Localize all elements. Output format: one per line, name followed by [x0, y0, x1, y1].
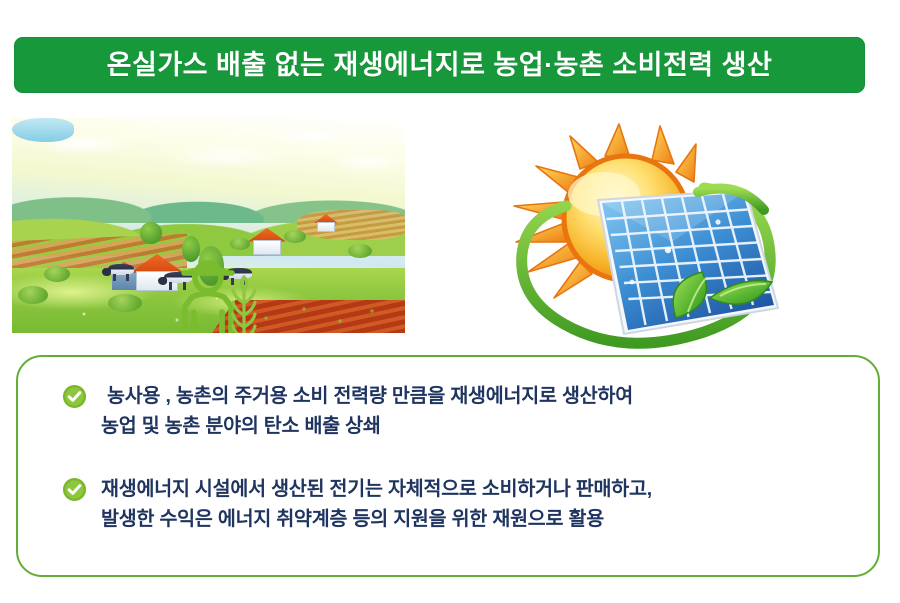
- cow-leg: [113, 274, 116, 281]
- farmer-with-wheat-icon: [164, 251, 272, 333]
- farm-house-far: [314, 214, 338, 232]
- check-circle-icon: [62, 477, 87, 502]
- bullet-line: 발생한 수익은 에너지 취약계층 등의 지원을 위한 재원으로 활용: [101, 504, 652, 534]
- bush: [284, 230, 306, 243]
- farm-landscape-image: [12, 118, 405, 333]
- bullet-line: 농사용 , 농촌의 주거용 소비 전력량 만큼을 재생에너지로 생산하여: [101, 381, 633, 411]
- bullet-text: 재생에너지 시설에서 생산된 전기는 자체적으로 소비하거나 판매하고, 발생한…: [101, 474, 652, 534]
- tree: [140, 222, 162, 244]
- bush: [44, 266, 70, 282]
- pond: [12, 118, 74, 142]
- check-circle-icon: [62, 384, 87, 409]
- bush: [230, 238, 250, 250]
- bullet-item: 재생에너지 시설에서 생산된 전기는 자체적으로 소비하거나 판매하고, 발생한…: [62, 474, 652, 534]
- bush: [348, 244, 372, 258]
- cow: [108, 264, 134, 281]
- bullet-content-box: 농사용 , 농촌의 주거용 소비 전력량 만큼을 재생에너지로 생산하여 농업 …: [16, 355, 880, 577]
- cow-leg: [126, 274, 129, 281]
- cow-head: [102, 268, 111, 276]
- bush: [18, 286, 48, 304]
- solar-panel-with-sun-and-leaves: [492, 122, 832, 350]
- bullet-item: 농사용 , 농촌의 주거용 소비 전력량 만큼을 재생에너지로 생산하여 농업 …: [62, 381, 633, 441]
- bush: [108, 294, 142, 312]
- slide-root: 온실가스 배출 없는 재생에너지로 농업·농촌 소비전력 생산: [0, 0, 900, 603]
- title-banner: 온실가스 배출 없는 재생에너지로 농업·농촌 소비전력 생산: [14, 37, 865, 93]
- bullet-line: 농업 및 농촌 분야의 탄소 배출 상쇄: [101, 411, 633, 441]
- house-body: [317, 222, 335, 232]
- bullet-text: 농사용 , 농촌의 주거용 소비 전력량 만큼을 재생에너지로 생산하여 농업 …: [101, 381, 633, 441]
- bullet-line: 재생에너지 시설에서 생산된 전기는 자체적으로 소비하거나 판매하고,: [101, 474, 652, 504]
- page-title: 온실가스 배출 없는 재생에너지로 농업·농촌 소비전력 생산: [107, 52, 773, 79]
